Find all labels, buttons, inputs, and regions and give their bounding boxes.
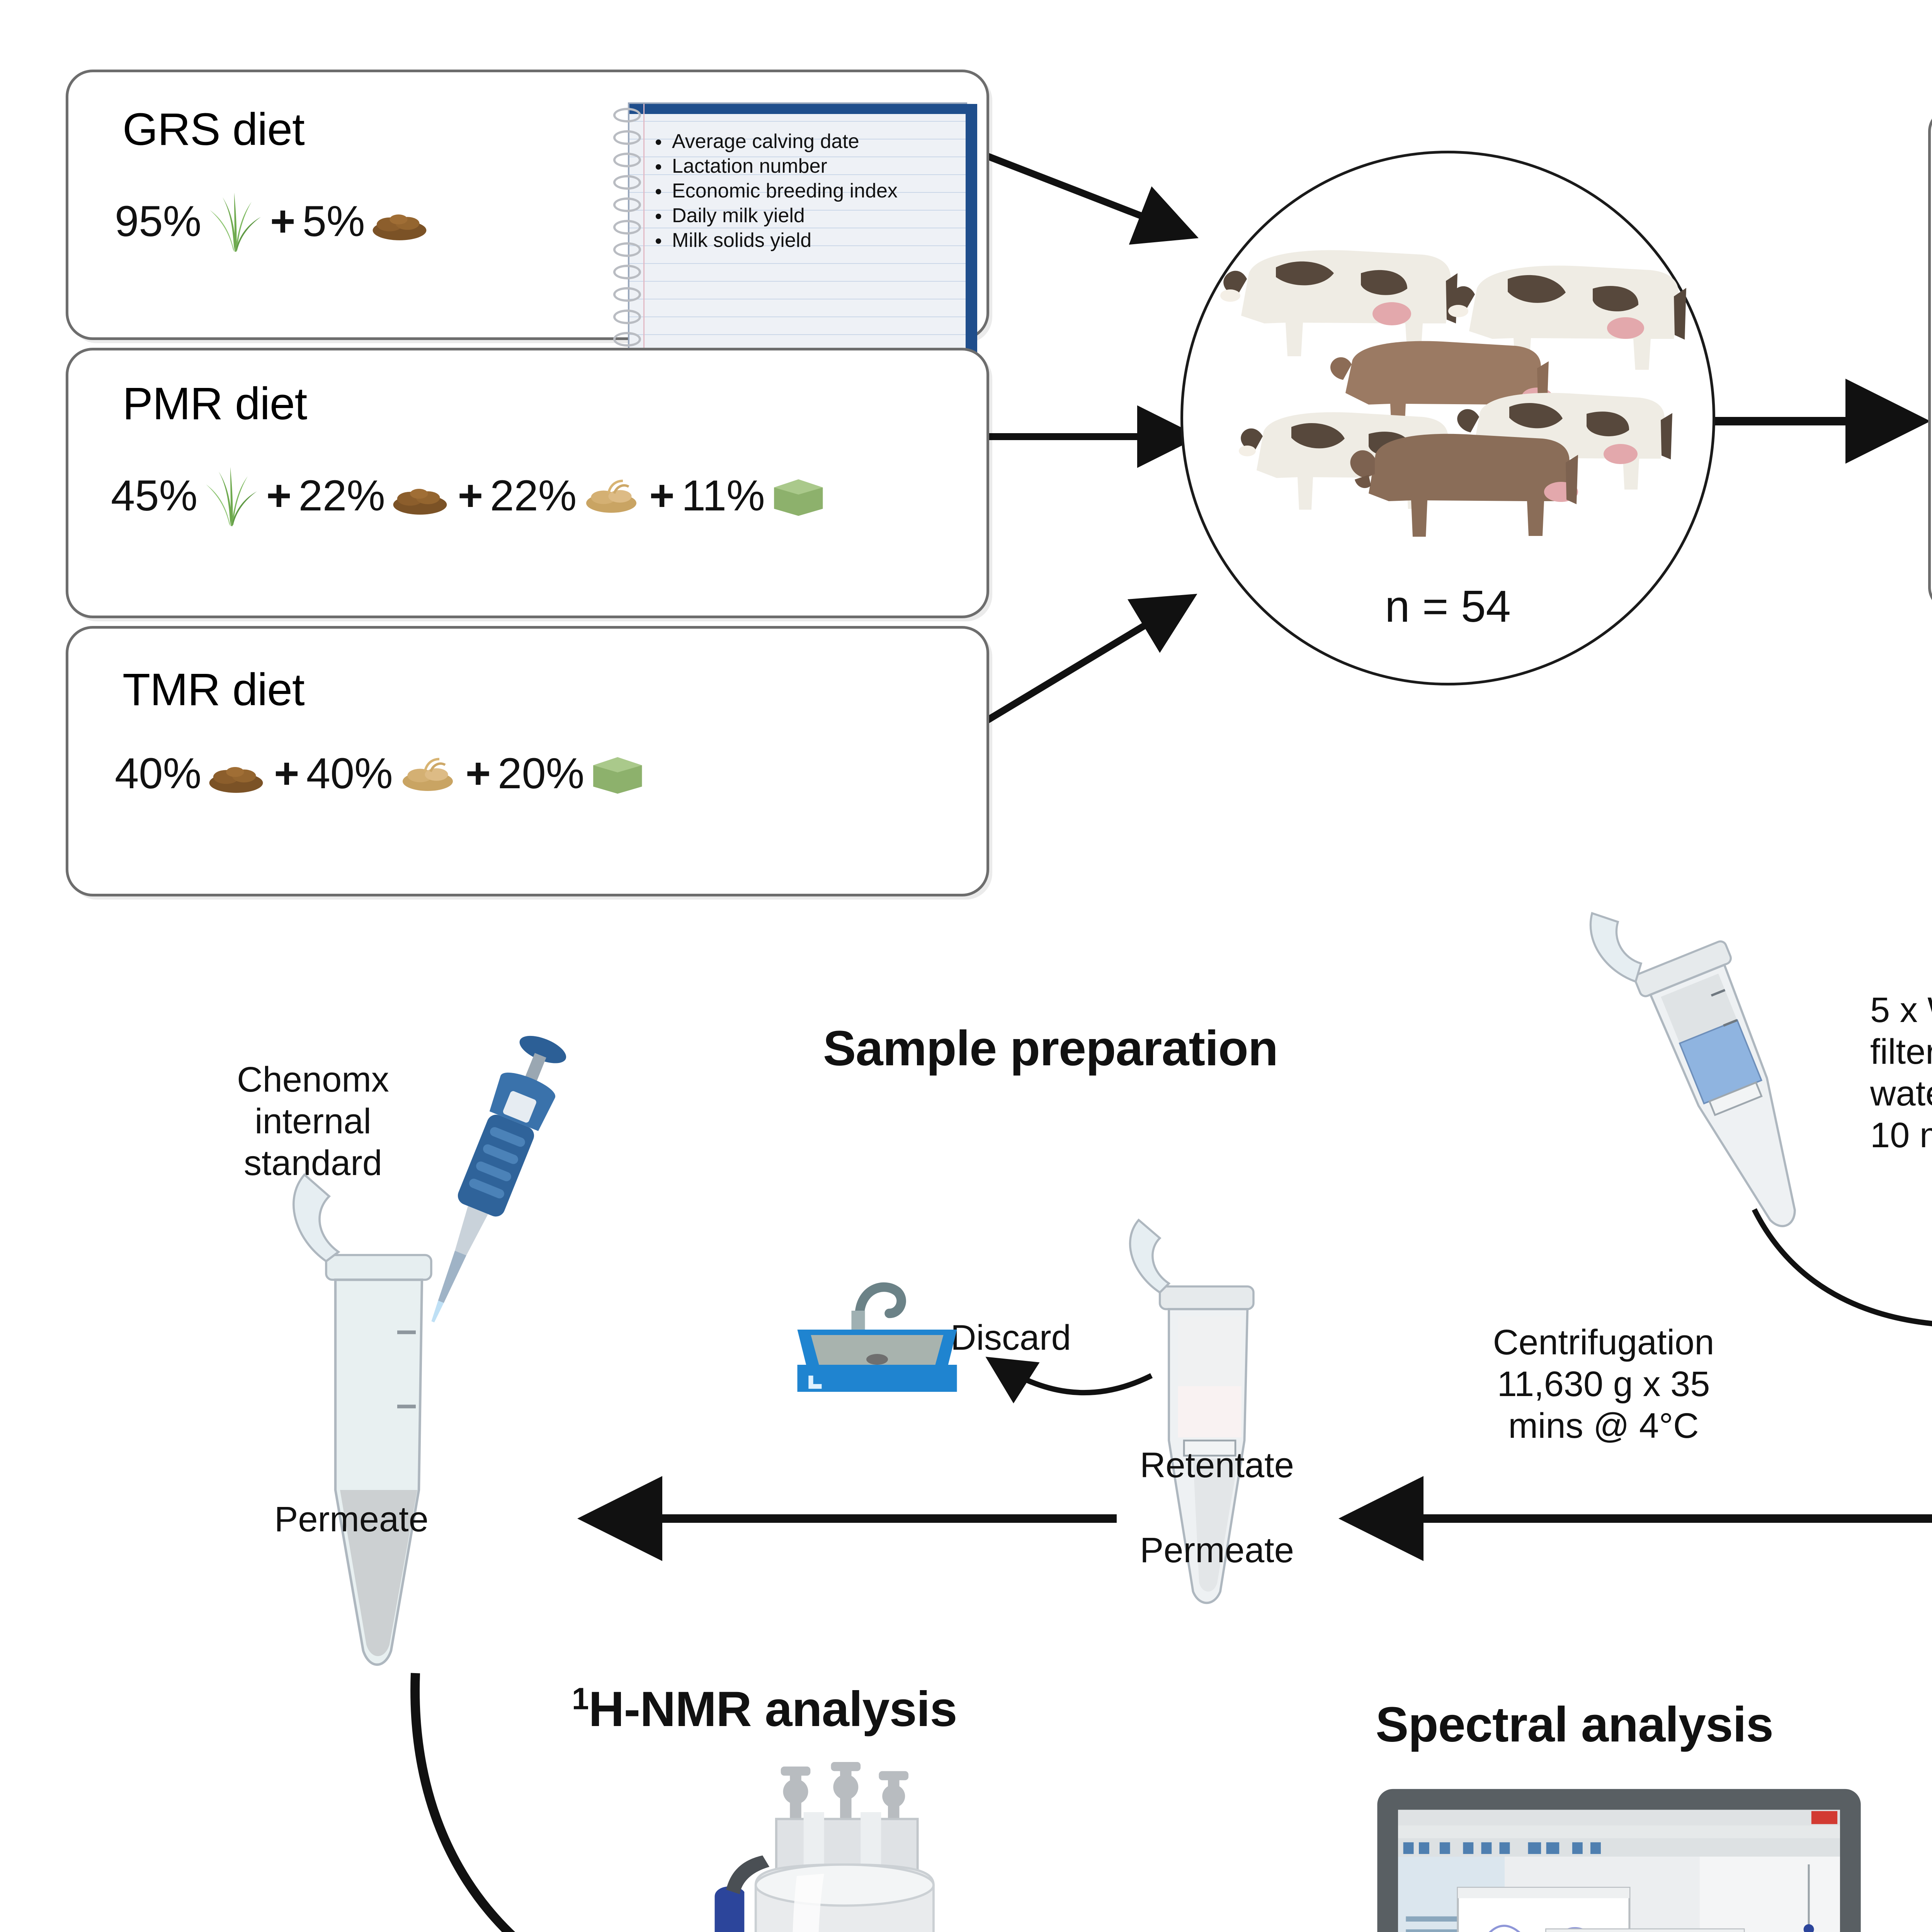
diet-percent: 95% <box>115 196 201 246</box>
list-item: Economic breeding index <box>672 179 954 203</box>
sample-size-label: n = 54 <box>1183 580 1713 632</box>
list-item: Milk solids yield <box>672 228 954 252</box>
diet-composition: 95% + 5% <box>115 188 430 254</box>
diet-title: TMR diet <box>122 663 304 716</box>
diet-percent: 22% <box>299 471 385 520</box>
plus-sign: + <box>263 471 294 520</box>
wash-filter-tube-icon <box>1654 947 1816 1248</box>
wash-instruction-label: 5 x Wash 3KDa filters with miliQ water 9… <box>1870 989 1932 1156</box>
straw-icon <box>397 754 459 793</box>
permeate-tube-label: Permeate <box>274 1499 429 1540</box>
permeate-filter-label: Permeate <box>1140 1530 1294 1571</box>
spectral-analysis-title: Spectral analysis <box>1376 1696 1773 1753</box>
diet-percent: 45% <box>111 471 197 520</box>
nmr-superscript: 1 <box>572 1681 588 1716</box>
plus-sign: + <box>646 471 677 520</box>
diet-title: GRS diet <box>122 103 304 156</box>
nmr-spectrometer-icon <box>668 1762 1016 1932</box>
grass-icon <box>205 188 263 254</box>
notepad-item-list: Average calving date Lactation number Ec… <box>629 114 966 257</box>
concentrate-icon <box>369 204 430 238</box>
centrifugation-2-label: Centrifugation 11,630 g x 35 mins @ 4°C <box>1453 1321 1754 1447</box>
diet-percent: 5% <box>303 196 365 246</box>
collection-title: Collection <box>1928 12 1932 68</box>
concentrate-icon <box>205 756 267 791</box>
silage-icon <box>588 753 646 794</box>
sample-preparation-title: Sample preparation <box>823 1020 1278 1077</box>
list-item: Lactation number <box>672 154 954 178</box>
list-item: Daily milk yield <box>672 204 954 228</box>
plus-sign: + <box>455 471 486 520</box>
straw-icon <box>580 476 642 515</box>
silage-icon <box>769 475 827 516</box>
plus-sign: + <box>267 196 298 246</box>
diet-title: PMR diet <box>122 378 307 430</box>
diet-percent: 20% <box>498 748 584 798</box>
cow-herd-circle: n = 54 <box>1180 151 1715 685</box>
permeate-tube-icon <box>286 1221 456 1677</box>
retentate-label: Retentate <box>1140 1445 1294 1486</box>
workflow-diagram: GRS diet 95% + 5% <box>0 0 1932 1932</box>
diet-percent: 11% <box>682 471 765 520</box>
sink-discard-icon <box>788 1267 966 1403</box>
collection-panel <box>1928 108 1932 611</box>
diet-percent: 40% <box>115 748 201 798</box>
diet-card-pmr: PMR diet 45% + 22% <box>66 348 989 618</box>
chenomx-internal-standard-label: Chenomx internal standard <box>216 1059 410 1184</box>
plus-sign: + <box>463 748 494 798</box>
laptop-spectral-software-icon <box>1333 1785 1905 1932</box>
diet-percent: 22% <box>490 471 577 520</box>
plus-sign: + <box>271 748 302 798</box>
diet-composition: 40% + 40% + 2 <box>115 748 646 798</box>
diet-composition: 45% + 22% + 2 <box>111 463 827 528</box>
diet-card-tmr: TMR diet 40% + 40% <box>66 626 989 896</box>
list-item: Average calving date <box>672 129 954 153</box>
concentrate-icon <box>389 478 451 513</box>
nmr-title-text: H-NMR analysis <box>588 1682 957 1737</box>
discard-left-label: Discard <box>951 1318 1071 1358</box>
diet-percent: 40% <box>306 748 393 798</box>
nmr-analysis-title: 1H-NMR analysis <box>572 1681 957 1738</box>
cow-herd-illustration <box>1206 227 1689 544</box>
grass-icon <box>201 463 259 528</box>
